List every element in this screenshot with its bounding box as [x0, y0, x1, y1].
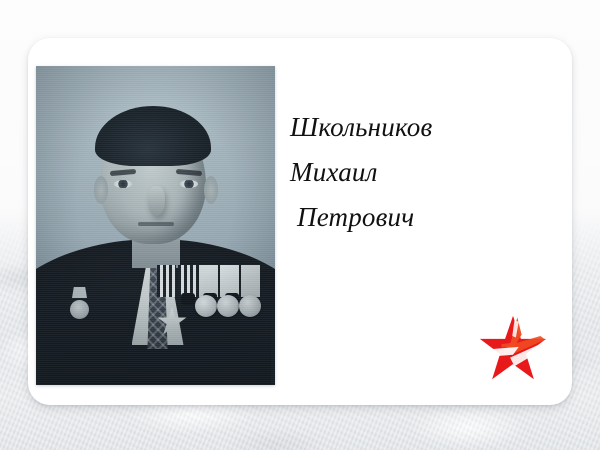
veteran-name-block: Школьников Михаил Петрович	[290, 105, 558, 240]
veteran-patronymic: Петрович	[290, 195, 558, 240]
veteran-surname: Школьников	[290, 105, 558, 150]
veteran-given-name: Михаил	[290, 150, 558, 195]
tribute-card: Школьников Михаил Петрович	[28, 38, 572, 405]
slide-canvas: Школьников Михаил Петрович	[0, 0, 600, 450]
portrait-photo-content	[36, 66, 275, 385]
photo-blue-tint	[36, 66, 275, 385]
red-star-icon	[476, 313, 550, 385]
red-star-emblem	[476, 313, 550, 385]
portrait-photo	[36, 66, 275, 385]
